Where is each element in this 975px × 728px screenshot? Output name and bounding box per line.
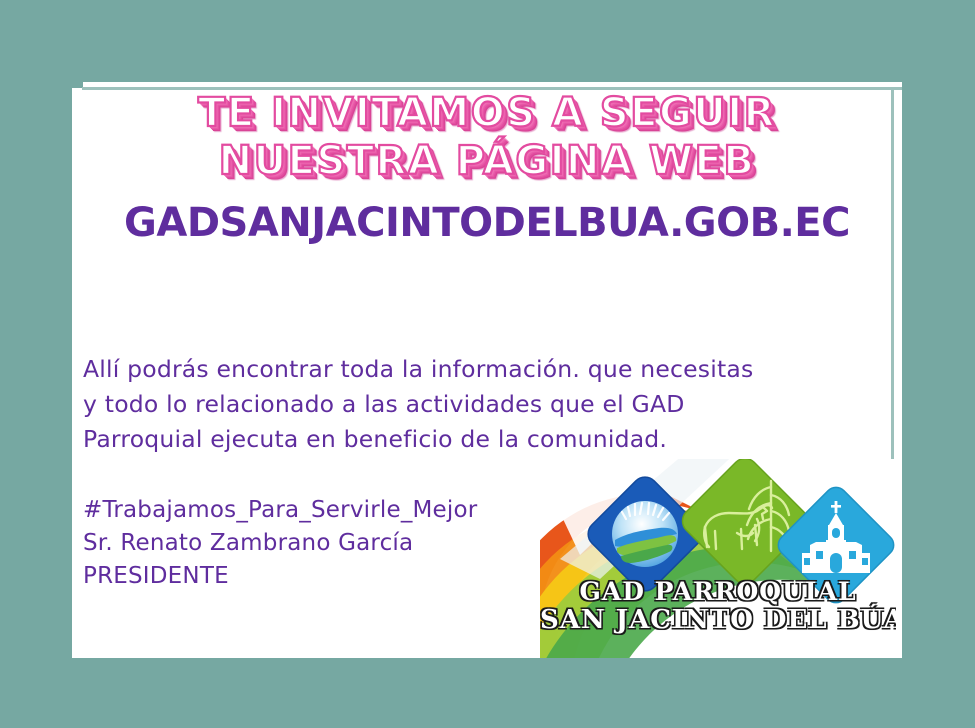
signature-block: #Trabajamos_Para_Servirle_Mejor Sr. Rena… bbox=[83, 494, 553, 593]
heading-line-2: NUESTRA PÁGINA WEB bbox=[72, 138, 902, 184]
president-name: Sr. Renato Zambrano García bbox=[83, 527, 553, 560]
poster-heading: TE INVITAMOS A SEGUIR NUESTRA PÁGINA WEB bbox=[72, 90, 902, 184]
heading-line-1: TE INVITAMOS A SEGUIR bbox=[72, 90, 902, 136]
hashtag-slogan: #Trabajamos_Para_Servirle_Mejor bbox=[83, 494, 553, 527]
poster-card: TE INVITAMOS A SEGUIR NUESTRA PÁGINA WEB… bbox=[72, 82, 902, 658]
logo-caption-line-1: GAD PARROQUIAL bbox=[540, 577, 896, 606]
president-role: PRESIDENTE bbox=[83, 560, 553, 593]
gad-parroquial-logo: GAD PARROQUIAL SAN JACINTO DEL BÚA bbox=[540, 459, 896, 658]
body-paragraph: Allí podrás encontrar toda la informació… bbox=[83, 352, 883, 457]
logo-caption-line-2: SAN JACINTO DEL BÚA bbox=[540, 605, 896, 635]
website-url[interactable]: GADSANJACINTODELBUA.GOB.EC bbox=[72, 200, 902, 246]
